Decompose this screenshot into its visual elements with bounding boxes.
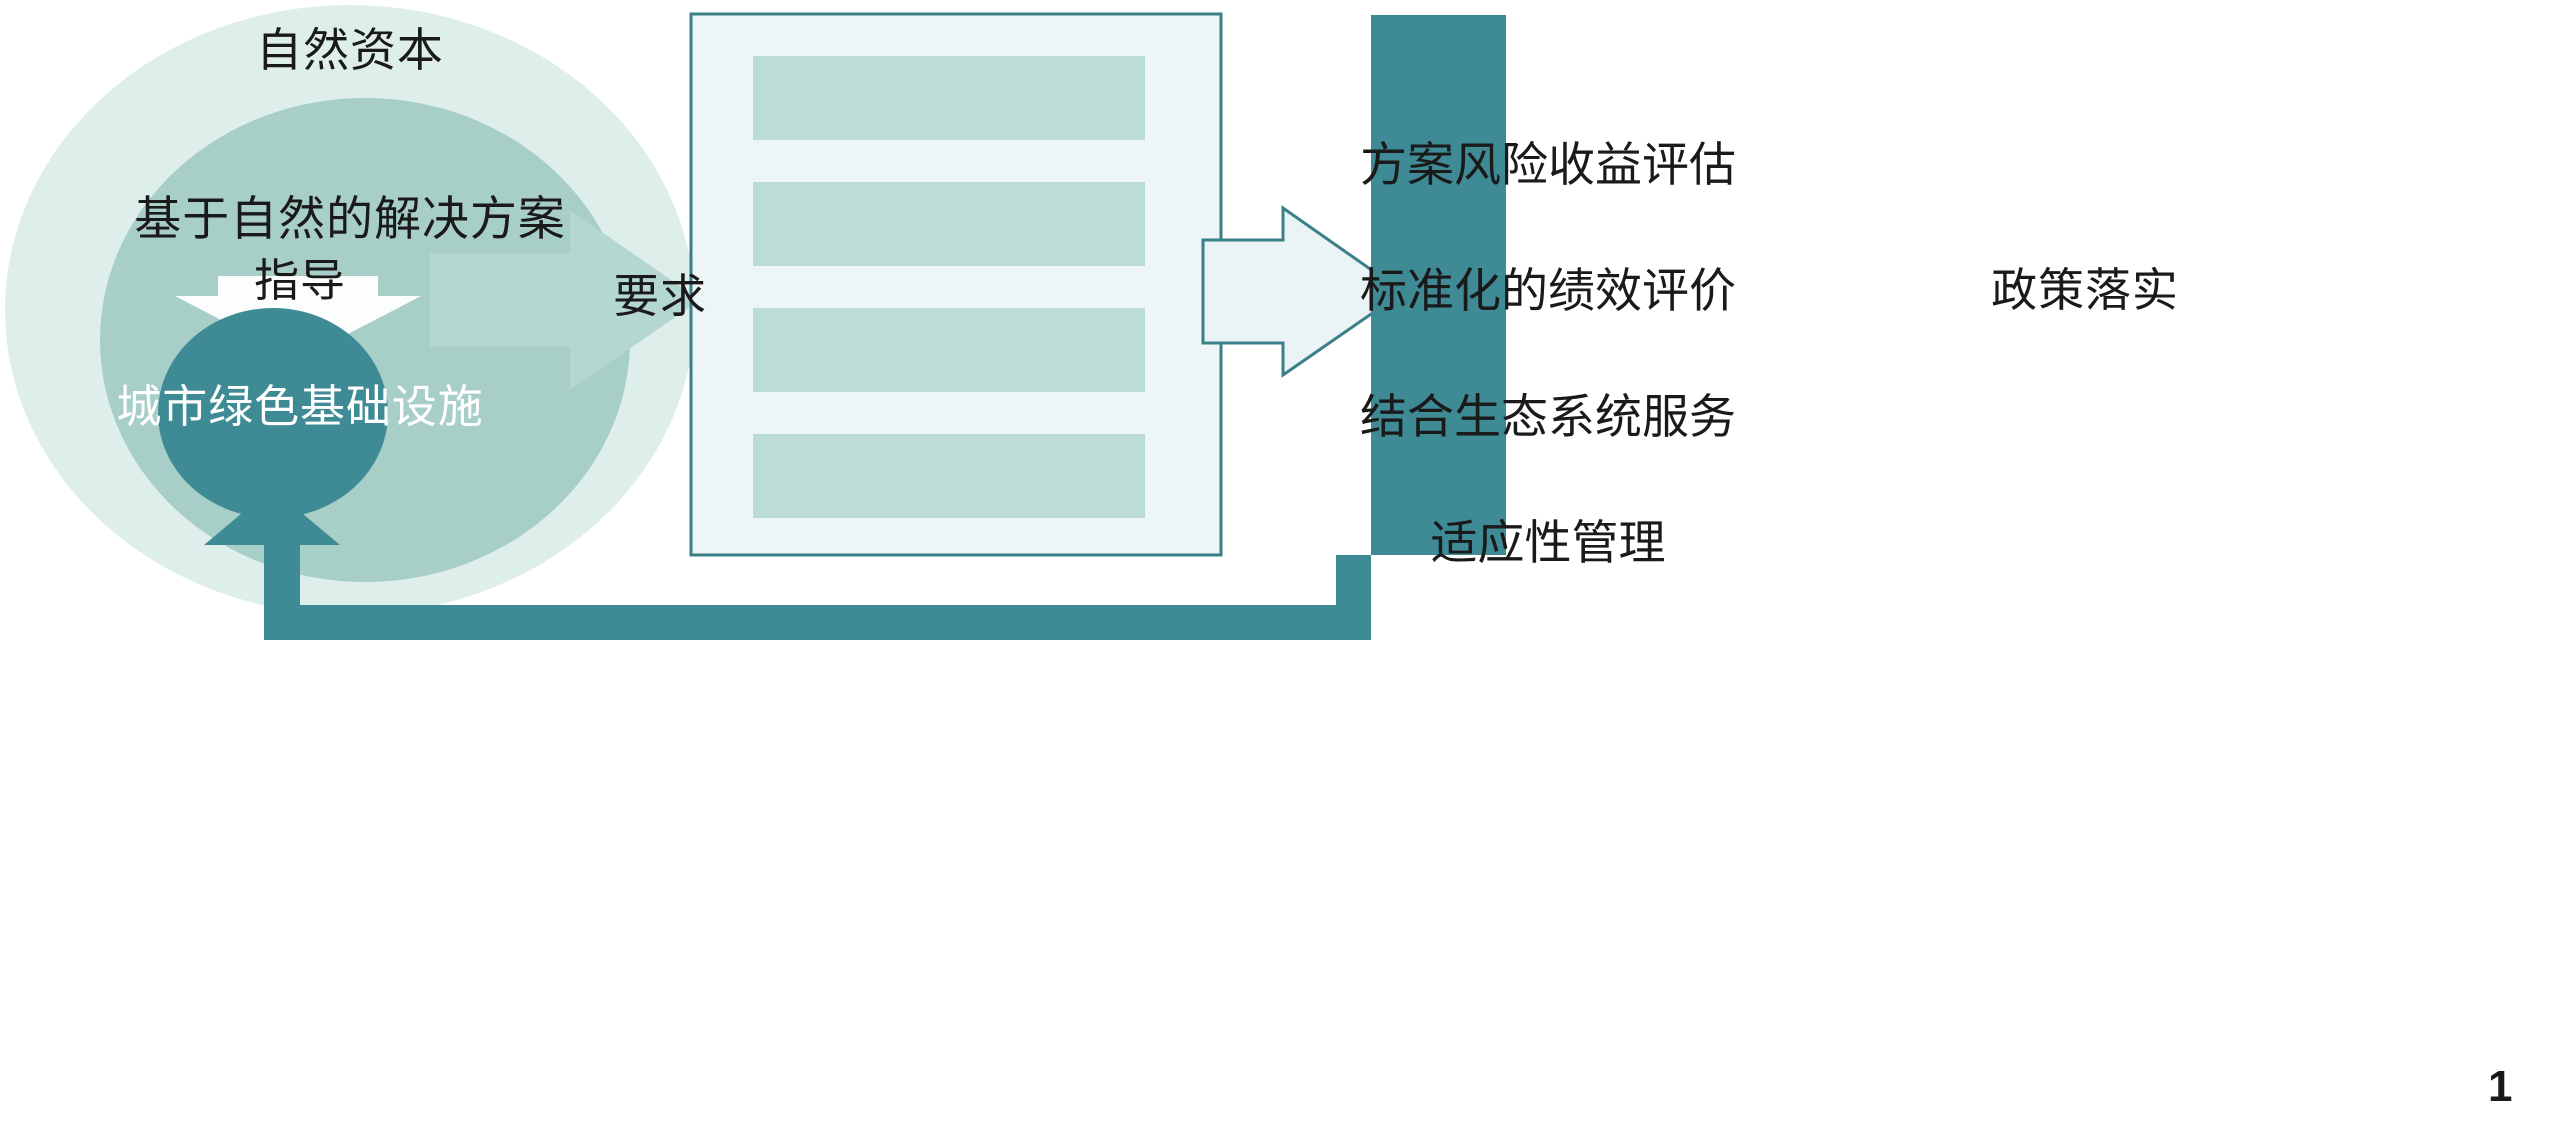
- requirement-arrow-label: 要求: [420, 268, 900, 324]
- criteria-box-label-2: 结合生态系统服务: [1227, 378, 1869, 447]
- criteria-box-label-0: 方案风险收益评估: [1227, 126, 1869, 195]
- policy-implementation-arrow-label: 政策落实: [1930, 262, 2240, 318]
- natural-capital-label: 自然资本: [0, 22, 700, 78]
- policy-tools-panel-label: 城市绿色基础设施政策工具: [2285, 150, 2511, 332]
- criteria-box-1[interactable]: [753, 182, 1145, 266]
- guidance-arrow-label: 指导: [160, 254, 440, 309]
- criteria-box-label-1: 标准化的绩效评价: [1227, 252, 1869, 321]
- criteria-box-0[interactable]: [753, 56, 1145, 140]
- urban-green-infrastructure-label: 城市绿色基础设施: [100, 378, 500, 437]
- nature-based-solutions-label: 基于自然的解决方案: [0, 190, 700, 247]
- diagram-canvas: 自然资本 基于自然的解决方案 指导 城市绿色基础设施 要求 方案风险收益评估 标…: [0, 0, 2550, 1142]
- construction-management-label: 建设和管理: [1150, 1041, 1650, 1107]
- criteria-box-label-3: 适应性管理: [1227, 504, 1869, 573]
- page-number: 1: [2488, 1062, 2512, 1112]
- criteria-box-3[interactable]: [753, 434, 1145, 518]
